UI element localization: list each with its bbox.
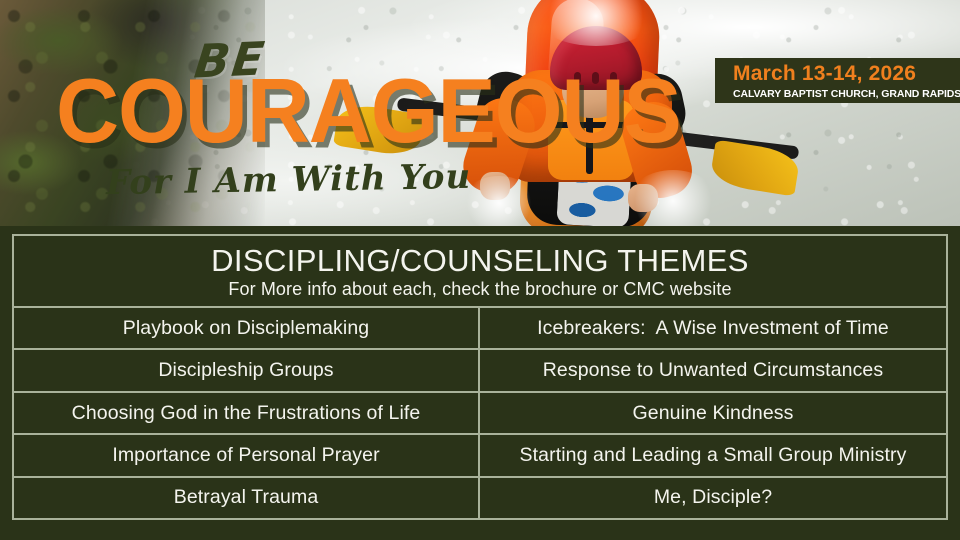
hero-banner: BE COURAGEOUS For I Am With You March 13… (0, 0, 960, 226)
table-row: Choosing God in the Frustrations of Life… (14, 393, 946, 435)
theme-cell: Discipleship Groups (14, 350, 480, 390)
themes-panel: DISCIPLING/COUNSELING THEMES For More in… (0, 226, 960, 540)
table-row: Playbook on Disciplemaking Icebreakers: … (14, 308, 946, 350)
theme-cell: Icebreakers: A Wise Investment of Time (480, 308, 946, 348)
hero-tagline: For I Am With You (106, 157, 472, 203)
theme-cell: Betrayal Trauma (14, 478, 480, 518)
theme-cell: Importance of Personal Prayer (14, 435, 480, 475)
theme-cell: Playbook on Disciplemaking (14, 308, 480, 348)
table-row: Betrayal Trauma Me, Disciple? (14, 478, 946, 518)
slide-root: BE COURAGEOUS For I Am With You March 13… (0, 0, 960, 540)
theme-cell: Genuine Kindness (480, 393, 946, 433)
event-dates: March 13-14, 2026 (733, 61, 960, 87)
table-header: DISCIPLING/COUNSELING THEMES For More in… (14, 236, 946, 308)
hero-title: COURAGEOUS (56, 70, 681, 151)
themes-table: DISCIPLING/COUNSELING THEMES For More in… (12, 234, 948, 520)
water-spray (462, 176, 536, 226)
theme-cell: Choosing God in the Frustrations of Life (14, 393, 480, 433)
theme-cell: Response to Unwanted Circumstances (480, 350, 946, 390)
date-badge: March 13-14, 2026 CALVARY BAPTIST CHURCH… (715, 58, 960, 103)
table-title: DISCIPLING/COUNSELING THEMES (211, 244, 749, 278)
water-spray (628, 170, 718, 226)
theme-cell: Starting and Leading a Small Group Minis… (480, 435, 946, 475)
theme-cell: Me, Disciple? (480, 478, 946, 518)
table-subtitle: For More info about each, check the broc… (228, 278, 731, 300)
table-row: Discipleship Groups Response to Unwanted… (14, 350, 946, 392)
event-venue: CALVARY BAPTIST CHURCH, GRAND RAPIDS, MI (733, 87, 960, 101)
table-row: Importance of Personal Prayer Starting a… (14, 435, 946, 477)
